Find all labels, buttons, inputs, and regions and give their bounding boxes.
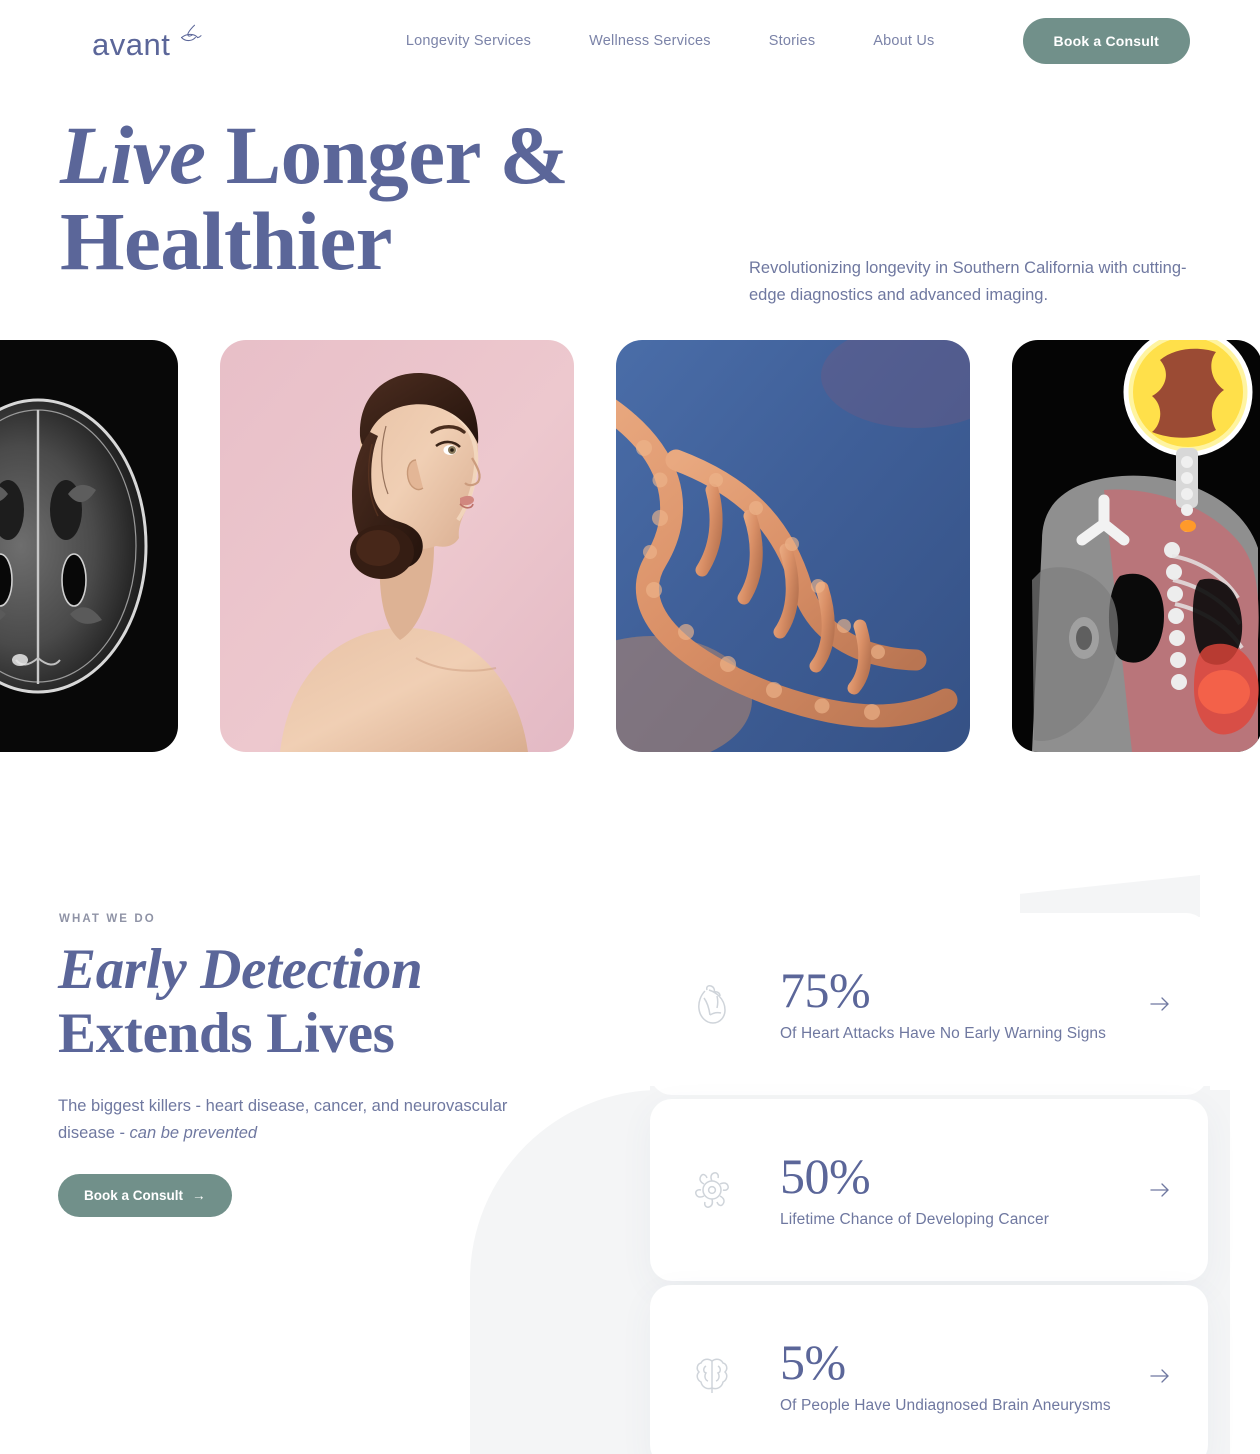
section-title-rest: Extends Lives — [58, 1002, 395, 1065]
stat-label: Of People Have Undiagnosed Brain Aneurys… — [780, 1397, 1150, 1415]
nav-item-wellness-services[interactable]: Wellness Services — [589, 33, 711, 49]
section-title-italic: Early Detection — [58, 938, 422, 1001]
stat-value: 50% — [780, 1151, 1150, 1202]
pet-ct-body-scan-image — [1012, 340, 1260, 752]
woman-profile-portrait-image — [220, 340, 574, 752]
section-eyebrow: WHAT WE DO — [59, 913, 156, 925]
stat-value: 75% — [780, 965, 1150, 1016]
arrow-right-icon: → — [192, 1188, 206, 1203]
brain-icon — [690, 1355, 734, 1397]
stat-card-cancer[interactable]: 50% Lifetime Chance of Developing Cancer — [650, 1099, 1208, 1281]
main-navigation: Longevity Services Wellness Services Sto… — [406, 18, 1212, 64]
section-body: The biggest killers - heart disease, can… — [58, 1093, 523, 1146]
stat-text-group: 5% Of People Have Undiagnosed Brain Aneu… — [780, 1337, 1150, 1415]
site-header: avant Longevity Services Wellness Servic… — [48, 0, 1212, 82]
brain-mri-scan-image — [0, 340, 178, 752]
arrow-right-icon[interactable] — [1150, 1368, 1170, 1384]
section-title: Early DetectionExtends Lives — [58, 938, 618, 1066]
hero-title-italic: Live — [60, 109, 205, 201]
brand-name: avant — [92, 29, 170, 60]
hero-image-gallery — [0, 340, 1260, 752]
stat-value: 5% — [780, 1337, 1150, 1388]
arrow-right-icon[interactable] — [1150, 996, 1170, 1012]
section-body-italic: can be prevented — [130, 1124, 258, 1142]
heart-anatomical-icon — [690, 982, 734, 1026]
hero-subtitle: Revolutionizing longevity in Southern Ca… — [749, 255, 1199, 308]
stat-label: Of Heart Attacks Have No Early Warning S… — [780, 1025, 1150, 1043]
stat-label: Lifetime Chance of Developing Cancer — [780, 1211, 1150, 1229]
bird-icon — [172, 21, 202, 54]
book-consult-main-button[interactable]: Book a Consult → — [58, 1174, 232, 1217]
landing-page: avant Longevity Services Wellness Servic… — [0, 0, 1260, 1454]
brand-logo[interactable]: avant — [92, 23, 202, 60]
dna-helix-image — [616, 340, 970, 752]
book-consult-main-label: Book a Consult — [84, 1188, 183, 1203]
section-body-plain: The biggest killers - heart disease, can… — [58, 1097, 507, 1142]
stat-card-brain[interactable]: 5% Of People Have Undiagnosed Brain Aneu… — [650, 1285, 1208, 1454]
stat-card-heart[interactable]: 75% Of Heart Attacks Have No Early Warni… — [650, 913, 1208, 1095]
cell-cancer-icon — [690, 1170, 734, 1210]
book-consult-header-button[interactable]: Book a Consult — [1023, 18, 1190, 64]
nav-item-stories[interactable]: Stories — [769, 33, 816, 49]
stat-text-group: 75% Of Heart Attacks Have No Early Warni… — [780, 965, 1150, 1043]
arrow-right-icon[interactable] — [1150, 1182, 1170, 1198]
nav-item-about-us[interactable]: About Us — [873, 33, 934, 49]
nav-item-longevity-services[interactable]: Longevity Services — [406, 33, 531, 49]
stat-text-group: 50% Lifetime Chance of Developing Cancer — [780, 1151, 1150, 1229]
hero-title: Live Longer & Healthier — [60, 112, 700, 285]
